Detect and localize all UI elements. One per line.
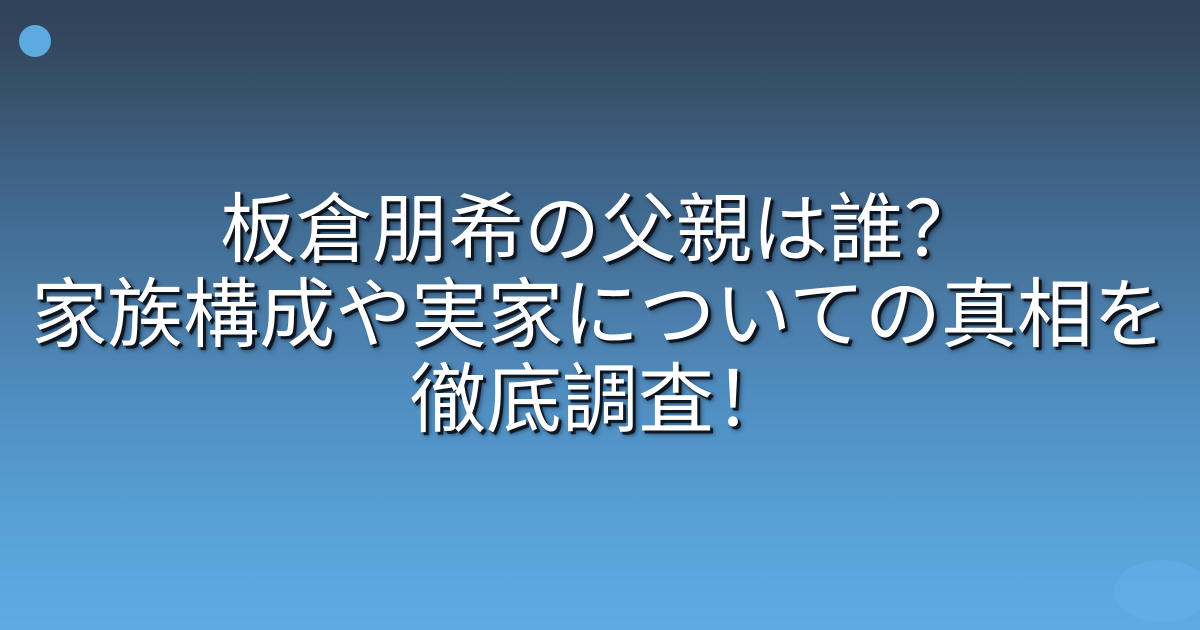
social-share-card: 板倉朋希の父親は誰？ 家族構成や実家についての真相を 徹底調査！ — [0, 0, 1200, 630]
title-line-3: 徹底調査！ — [410, 358, 790, 443]
title-line-2: 家族構成や実家についての真相を — [31, 273, 1169, 358]
title-line-1: 板倉朋希の父親は誰？ — [220, 188, 980, 273]
decorative-blob-icon — [1114, 560, 1200, 622]
page-title: 板倉朋希の父親は誰？ 家族構成や実家についての真相を 徹底調査！ — [0, 0, 1200, 630]
